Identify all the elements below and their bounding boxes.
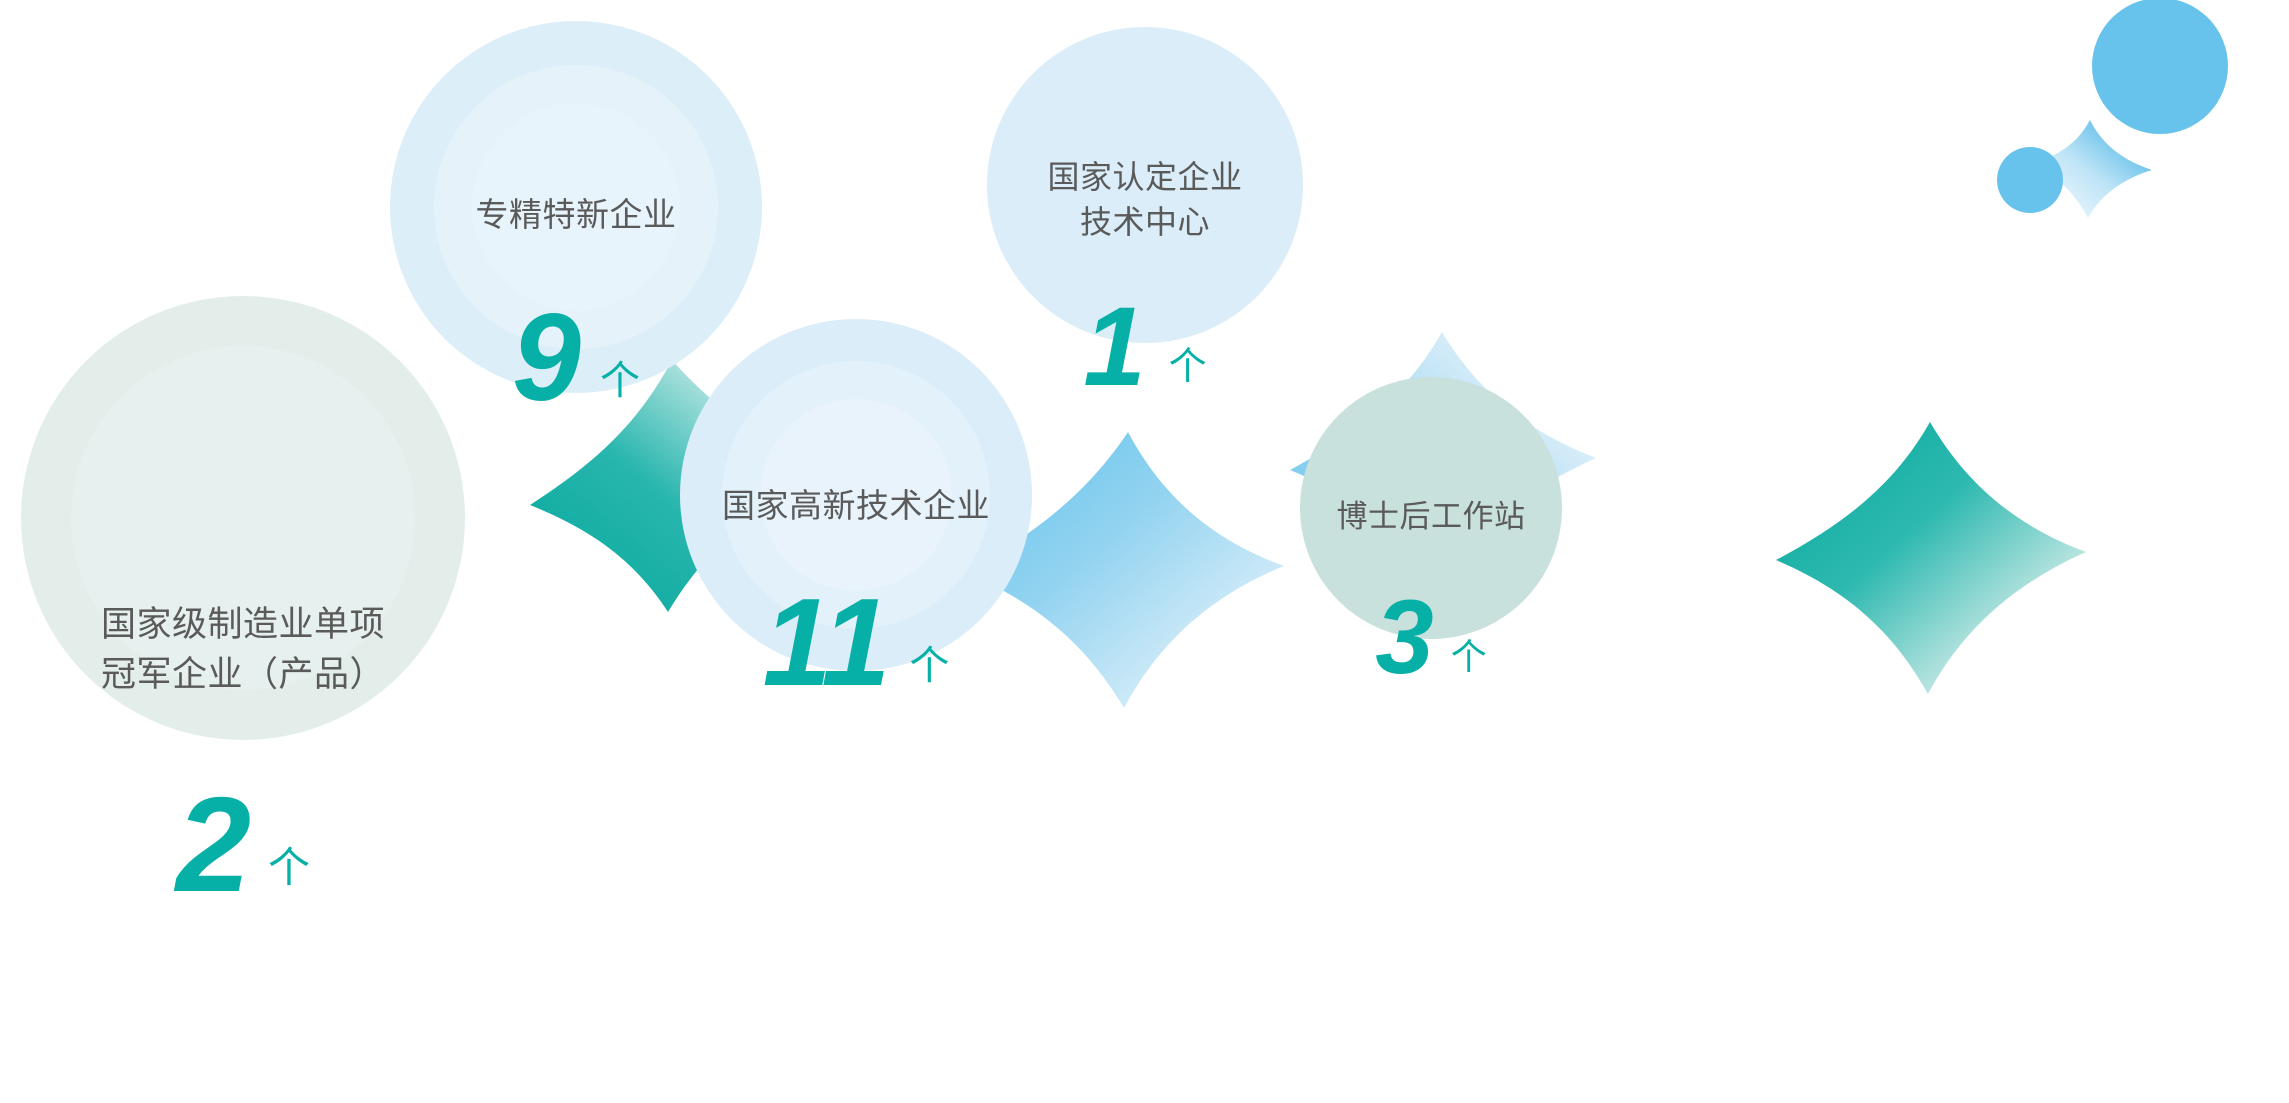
- node-circle-national-manufacturing-champion[interactable]: [21, 296, 465, 740]
- node-circle-postdoctoral-workstation[interactable]: [1300, 377, 1562, 639]
- infographic-artwork: [0, 0, 2289, 1103]
- connector-link-4-5: [1776, 422, 2086, 694]
- infographic-canvas: 国家级制造业单项 冠军企业（产品） 2 个 专精特新企业 9 个 国家高新技术企…: [0, 0, 2289, 1103]
- node-circle-specialized-new-enterprise[interactable]: [390, 21, 762, 393]
- node-circle-national-enterprise-tech-center[interactable]: [987, 27, 1303, 343]
- decor-dot-small: [1997, 147, 2063, 213]
- decor-dot-large: [2092, 0, 2228, 134]
- node-circle-national-hi-tech-enterprise[interactable]: [680, 319, 1032, 671]
